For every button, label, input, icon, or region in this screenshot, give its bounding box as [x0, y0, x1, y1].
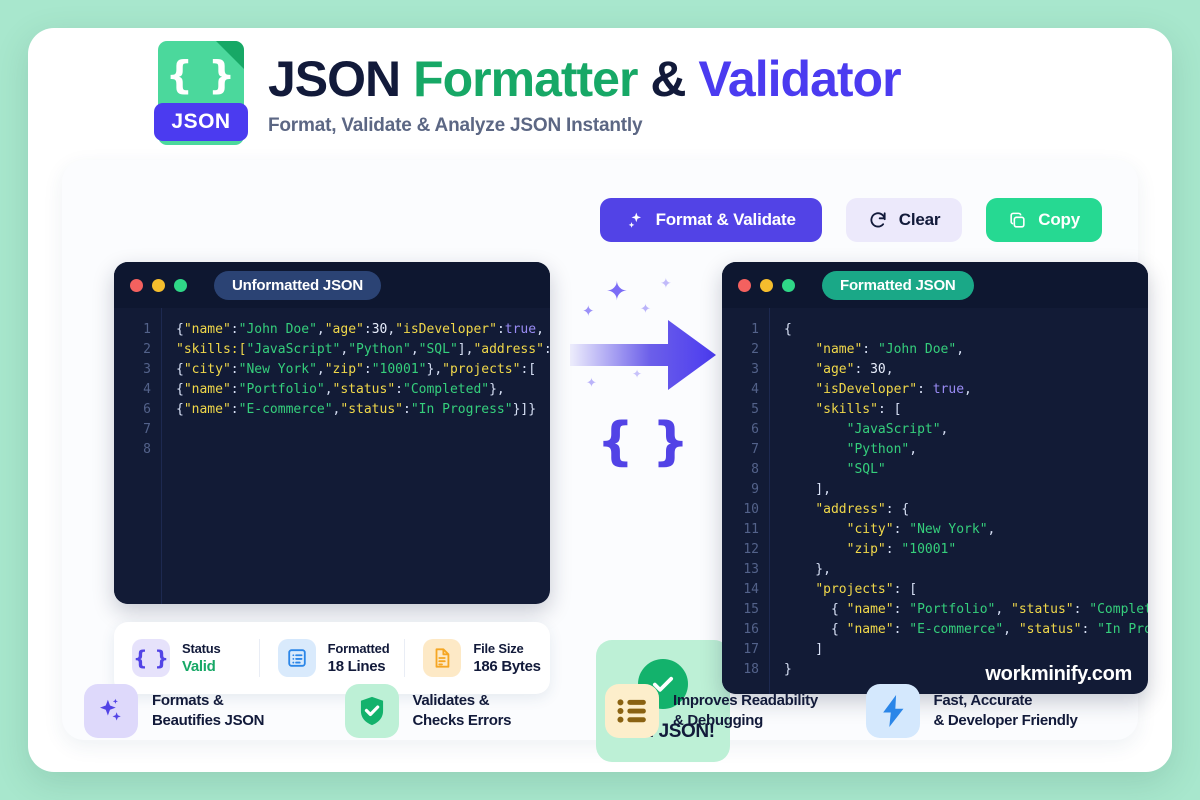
code-line: "age": 30,	[784, 360, 1148, 380]
code-token: },	[489, 382, 505, 397]
maximize-dot-icon[interactable]	[782, 279, 795, 292]
code-token: {	[176, 382, 184, 397]
code-token	[784, 502, 815, 517]
app-header: { } JSON JSON Formatter & Validator Form…	[28, 28, 1172, 158]
copy-button[interactable]: Copy	[986, 198, 1102, 242]
code-token: "skills"	[815, 402, 878, 417]
code-line: {"name":"John Doe","age":30,"isDeveloper…	[176, 320, 550, 340]
feature-strip: Formats & Beautifies JSON Validates & Ch…	[62, 674, 1138, 748]
title-part-json: JSON	[268, 51, 413, 107]
lightning-icon	[866, 684, 920, 738]
format-validate-label: Format & Validate	[656, 210, 796, 230]
transform-indicator: ✦ ✦ ✦ ✦ ✦ ✦ { }	[570, 272, 716, 472]
code-token: "SQL"	[419, 342, 458, 357]
code-token	[784, 382, 815, 397]
list-icon	[605, 684, 659, 738]
stat-filesize: File Size 186 Bytes	[404, 639, 550, 677]
stat-formatted: Formatted 18 Lines	[259, 639, 405, 677]
line-number: 1	[722, 320, 759, 340]
code-token: :	[886, 542, 902, 557]
braces-icon: { }	[570, 412, 716, 472]
logo-braces-icon: { }	[158, 53, 244, 97]
code-token: "isDeveloper"	[815, 382, 917, 397]
code-token: "name"	[184, 322, 231, 337]
code-token: {	[176, 362, 184, 377]
code-token	[784, 342, 815, 357]
code-token	[784, 462, 847, 477]
code-line: },	[784, 560, 1148, 580]
code-token: ,	[536, 322, 544, 337]
feature-fast: Fast, Accurate & Developer Friendly	[866, 684, 1117, 738]
code-token: ,	[387, 322, 395, 337]
feature-text: Formats & Beautifies JSON	[152, 691, 264, 732]
sparkle-icon: ✦	[660, 276, 672, 290]
sparkle-icon: ✦	[606, 278, 628, 304]
code-token: :	[1081, 622, 1097, 637]
line-number: 8	[114, 440, 151, 460]
workspace-panel: Format & Validate Clear Copy	[62, 160, 1138, 740]
line-number: 7	[114, 420, 151, 440]
code-token: {	[784, 322, 792, 337]
feature-line1: Validates &	[413, 691, 512, 711]
stat-status: { } Status Valid	[114, 639, 259, 677]
code-token: "city"	[184, 362, 231, 377]
feature-readability: Improves Readability & Debugging	[605, 684, 856, 738]
code-token: },	[427, 362, 443, 377]
code-token	[784, 582, 815, 597]
line-number: 4	[114, 380, 151, 400]
line-number: 3	[722, 360, 759, 380]
code-token: "John Doe"	[239, 322, 317, 337]
code-token: :	[1074, 602, 1090, 617]
stat-text: Formatted 18 Lines	[328, 641, 390, 675]
line-number: 6	[114, 400, 151, 420]
line-number: 9	[722, 480, 759, 500]
code-token: :[	[520, 362, 536, 377]
code-token: ,	[886, 362, 894, 377]
sparkles-icon	[626, 211, 645, 230]
list-document-icon	[278, 639, 316, 677]
code-token: "status"	[1019, 622, 1082, 637]
code-token: {	[176, 402, 184, 417]
code-token: "Python"	[348, 342, 411, 357]
code-token: "name"	[184, 382, 231, 397]
gutter-right: 123456789101112131415161718	[722, 308, 770, 694]
sparkle-icon: ✦	[640, 302, 651, 315]
code-token	[784, 522, 847, 537]
page-subtitle: Format, Validate & Analyze JSON Instantl…	[268, 115, 901, 137]
line-number: 5	[722, 400, 759, 420]
code-token: "projects"	[815, 582, 893, 597]
code-token: :	[364, 322, 372, 337]
code-token: ,	[941, 422, 949, 437]
code-token: :	[917, 382, 933, 397]
code-line: {"city":"New York","zip":"10001"},"proje…	[176, 360, 550, 380]
copy-icon	[1008, 211, 1027, 230]
feature-text: Validates & Checks Errors	[413, 691, 512, 732]
code-token: "zip"	[847, 542, 886, 557]
code-token: "New York"	[909, 522, 987, 537]
code-token: ,	[964, 382, 972, 397]
code-token: :	[231, 382, 239, 397]
minimize-dot-icon[interactable]	[152, 279, 165, 292]
code-token: :	[894, 622, 910, 637]
shield-check-icon	[345, 684, 399, 738]
editor-titlebar-left: Unformatted JSON	[114, 262, 550, 308]
code-token: "status"	[340, 402, 403, 417]
code-token: "city"	[847, 522, 894, 537]
code-token	[784, 422, 847, 437]
code-token: {	[784, 622, 847, 637]
code-line: {"name":"Portfolio","status":"Completed"…	[176, 380, 550, 400]
code-token: ,	[325, 382, 333, 397]
code-token: ,	[317, 362, 325, 377]
code-token: ,	[956, 342, 964, 357]
clear-button[interactable]: Clear	[846, 198, 963, 242]
braces-icon: { }	[132, 639, 170, 677]
code-line: "SQL"	[784, 460, 1148, 480]
line-number: 10	[722, 500, 759, 520]
line-number: 11	[722, 520, 759, 540]
code-token: ,	[317, 322, 325, 337]
code-token: {	[784, 602, 847, 617]
screenshot-root: { } JSON JSON Formatter & Validator Form…	[0, 0, 1200, 800]
refresh-icon	[868, 210, 888, 230]
code-token: "age"	[815, 362, 854, 377]
code-token: "New York"	[239, 362, 317, 377]
stat-value: 18 Lines	[328, 658, 390, 675]
code-line: "city": "New York",	[784, 520, 1148, 540]
copy-label: Copy	[1038, 210, 1080, 230]
code-token: ,	[995, 602, 1011, 617]
line-number: 1	[114, 320, 151, 340]
line-number: 7	[722, 440, 759, 460]
code-token: "John Doe"	[878, 342, 956, 357]
unformatted-editor[interactable]: Unformatted JSON 1234678 {"name":"John D…	[114, 262, 550, 604]
json-logo: { } JSON	[158, 41, 244, 145]
code-token: "name"	[815, 342, 862, 357]
code-token: "SQL"	[847, 462, 886, 477]
code-token	[784, 542, 847, 557]
line-number: 4	[722, 380, 759, 400]
stat-text: File Size 186 Bytes	[473, 641, 540, 675]
formatted-title: Formatted JSON	[822, 271, 974, 300]
stat-value: Valid	[182, 658, 221, 675]
format-validate-button[interactable]: Format & Validate	[600, 198, 822, 242]
code-token: "JavaScript"	[246, 342, 340, 357]
code-token	[784, 402, 815, 417]
header-titles: JSON Formatter & Validator Format, Valid…	[268, 50, 901, 137]
code-token: 30	[870, 362, 886, 377]
code-token: :	[497, 322, 505, 337]
code-token: }]}	[513, 402, 536, 417]
code-token: ,	[411, 342, 419, 357]
code-token: :	[231, 402, 239, 417]
logo-badge: JSON	[154, 103, 248, 141]
close-dot-icon[interactable]	[130, 279, 143, 292]
file-icon	[423, 639, 461, 677]
code-line: "isDeveloper": true,	[784, 380, 1148, 400]
code-token: "status"	[1011, 602, 1074, 617]
code-token: true	[933, 382, 964, 397]
line-number: 8	[722, 460, 759, 480]
action-toolbar: Format & Validate Clear Copy	[600, 198, 1102, 242]
minimize-dot-icon[interactable]	[760, 279, 773, 292]
code-token: :	[364, 362, 372, 377]
sparkles-icon	[84, 684, 138, 738]
code-line: "address": {	[784, 500, 1148, 520]
line-number: 17	[722, 640, 759, 660]
code-line: {	[784, 320, 1148, 340]
stat-label: Formatted	[328, 641, 390, 656]
code-token: "In Progress"	[1097, 622, 1148, 637]
feature-line1: Improves Readability	[673, 691, 818, 711]
code-token: "name"	[847, 622, 894, 637]
code-token: "Completed"	[1089, 602, 1148, 617]
feature-line1: Formats &	[152, 691, 264, 711]
code-line: { "name": "Portfolio", "status": "Comple…	[784, 600, 1148, 620]
code-token: ]	[784, 642, 823, 657]
code-token: "isDeveloper"	[395, 322, 497, 337]
code-token: "10001"	[901, 542, 956, 557]
code-token	[784, 362, 815, 377]
code-token: "name"	[847, 602, 894, 617]
codelines-left[interactable]: {"name":"John Doe","age":30,"isDeveloper…	[162, 308, 550, 604]
code-token: "Portfolio"	[909, 602, 995, 617]
code-token: "status"	[333, 382, 396, 397]
line-number: 13	[722, 560, 759, 580]
feature-validates: Validates & Checks Errors	[345, 684, 596, 738]
line-number: 15	[722, 600, 759, 620]
feature-line2: & Debugging	[673, 711, 818, 731]
code-token: "address"	[473, 342, 543, 357]
formatted-editor[interactable]: Formatted JSON 1234567891011121314151617…	[722, 262, 1148, 694]
sparkle-icon: ✦	[582, 304, 595, 319]
title-part-validator: Validator	[698, 51, 900, 107]
code-token: {	[176, 322, 184, 337]
code-token: :	[894, 522, 910, 537]
arrow-area: ✦ ✦ ✦ ✦ ✦ ✦ { }	[570, 272, 716, 472]
line-number: 14	[722, 580, 759, 600]
code-token: "Python"	[847, 442, 910, 457]
title-ampersand: &	[637, 51, 698, 107]
code-token: "Portfolio"	[239, 382, 325, 397]
code-token: :	[395, 382, 403, 397]
code-token: "address"	[815, 502, 885, 517]
line-number: 12	[722, 540, 759, 560]
title-part-formatter: Formatter	[413, 51, 637, 107]
code-token: :	[231, 322, 239, 337]
code-line: "name": "John Doe",	[784, 340, 1148, 360]
page-title: JSON Formatter & Validator	[268, 54, 901, 105]
code-token: :	[231, 362, 239, 377]
code-token: "name"	[184, 402, 231, 417]
clear-label: Clear	[899, 210, 941, 230]
feature-text: Fast, Accurate & Developer Friendly	[934, 691, 1078, 732]
code-line: { "name": "E-commerce", "status": "In Pr…	[784, 620, 1148, 640]
code-line: ]	[784, 640, 1148, 660]
line-number: 2	[114, 340, 151, 360]
gutter-left: 1234678	[114, 308, 162, 604]
line-number: 6	[722, 420, 759, 440]
code-token: 30	[372, 322, 388, 337]
code-token: :	[403, 402, 411, 417]
code-token: ,	[988, 522, 996, 537]
code-token: },	[784, 562, 831, 577]
code-token: :	[544, 342, 550, 357]
feature-line2: Checks Errors	[413, 711, 512, 731]
code-token: ],	[458, 342, 474, 357]
code-token: ,	[1003, 622, 1019, 637]
code-token: : {	[886, 502, 909, 517]
stat-text: Status Valid	[182, 641, 221, 675]
unformatted-title: Unformatted JSON	[214, 271, 381, 300]
code-token: "E-commerce"	[909, 622, 1003, 637]
code-line: "JavaScript",	[784, 420, 1148, 440]
code-token: :	[854, 362, 870, 377]
line-number: 2	[722, 340, 759, 360]
code-line: "zip": "10001"	[784, 540, 1148, 560]
code-line: ],	[784, 480, 1148, 500]
feature-text: Improves Readability & Debugging	[673, 691, 818, 732]
code-token: "zip"	[325, 362, 364, 377]
code-line: "projects": [	[784, 580, 1148, 600]
code-token: : [	[894, 582, 917, 597]
formatted-code[interactable]: 123456789101112131415161718 { "name": "J…	[722, 308, 1148, 694]
feature-line1: Fast, Accurate	[934, 691, 1078, 711]
code-token: "Completed"	[403, 382, 489, 397]
code-token: : [	[878, 402, 901, 417]
feature-line2: Beautifies JSON	[152, 711, 264, 731]
close-dot-icon[interactable]	[738, 279, 751, 292]
feature-line2: & Developer Friendly	[934, 711, 1078, 731]
code-token: :	[894, 602, 910, 617]
codelines-right[interactable]: { "name": "John Doe", "age": 30, "isDeve…	[770, 308, 1148, 694]
code-token: ],	[784, 482, 831, 497]
line-number: 3	[114, 360, 151, 380]
code-token: "age"	[325, 322, 364, 337]
app-card: { } JSON JSON Formatter & Validator Form…	[28, 28, 1172, 772]
code-token	[784, 442, 847, 457]
code-token: "In Progress"	[411, 402, 513, 417]
stat-value: 186 Bytes	[473, 658, 540, 675]
code-token: "E-commerce"	[239, 402, 333, 417]
code-token: "JavaScript"	[847, 422, 941, 437]
code-line: "skills:["JavaScript","Python","SQL"],"a…	[176, 340, 550, 360]
code-token: :	[862, 342, 878, 357]
maximize-dot-icon[interactable]	[174, 279, 187, 292]
code-token: true	[505, 322, 536, 337]
code-token: "10001"	[372, 362, 427, 377]
stat-label: File Size	[473, 641, 540, 656]
arrow-right-icon	[570, 318, 716, 392]
feature-formats: Formats & Beautifies JSON	[84, 684, 335, 738]
code-line: {"name":"E-commerce","status":"In Progre…	[176, 400, 550, 420]
editor-titlebar-right: Formatted JSON	[722, 262, 1148, 308]
code-token: "skills:[	[176, 342, 246, 357]
code-line: "skills": [	[784, 400, 1148, 420]
line-number: 16	[722, 620, 759, 640]
code-line: "Python",	[784, 440, 1148, 460]
unformatted-code[interactable]: 1234678 {"name":"John Doe","age":30,"isD…	[114, 308, 550, 604]
code-token: "projects"	[442, 362, 520, 377]
code-token: ,	[909, 442, 917, 457]
stat-label: Status	[182, 641, 221, 656]
